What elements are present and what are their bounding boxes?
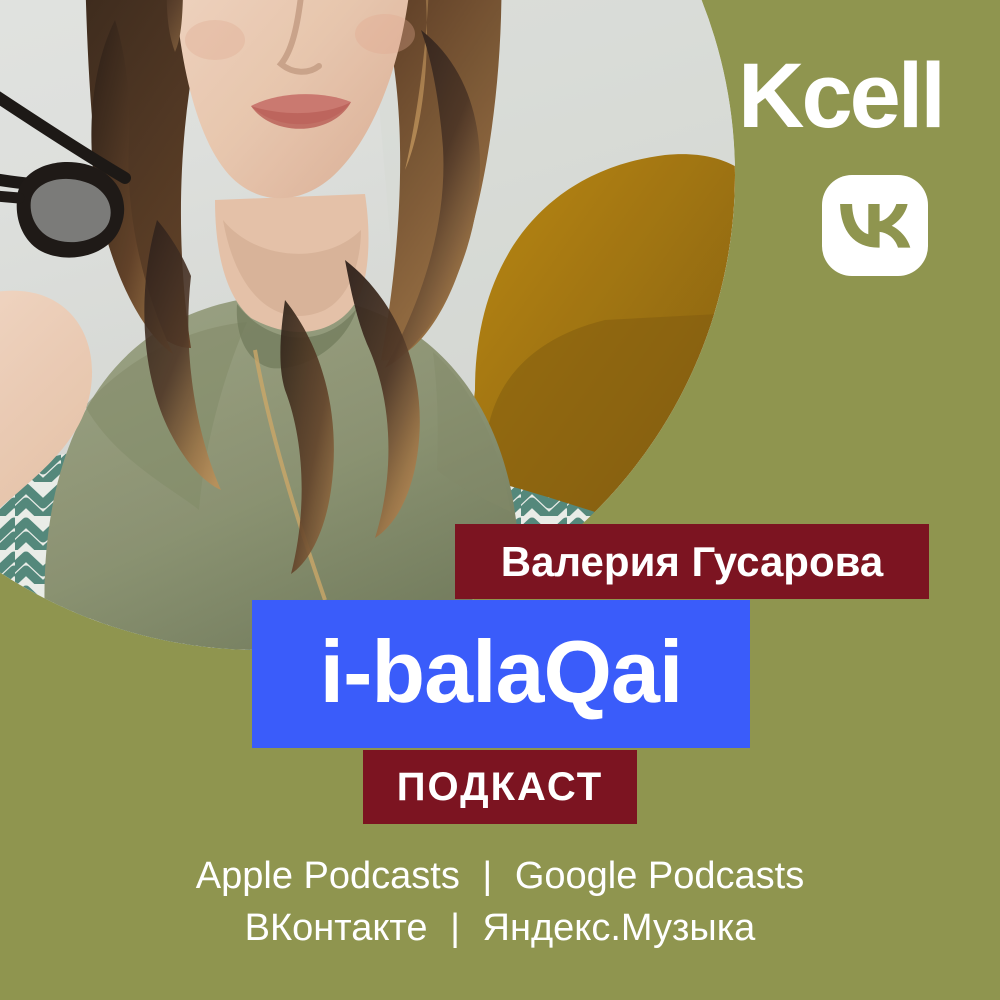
platform-row-2: ВКонтакте | Яндекс.Музыка <box>0 902 1000 954</box>
show-title-text: i-balaQai <box>320 621 683 723</box>
platform-list: Apple Podcasts | Google Podcasts ВКонтак… <box>0 850 1000 954</box>
host-name-banner: Валерия Гусарова <box>455 524 929 599</box>
show-kind-text: ПОДКАСТ <box>397 765 603 810</box>
platform-vkontakte[interactable]: ВКонтакте <box>245 907 428 949</box>
show-kind-banner: ПОДКАСТ <box>363 750 637 824</box>
platform-apple-podcasts[interactable]: Apple Podcasts <box>196 855 460 897</box>
vk-icon[interactable] <box>822 175 928 276</box>
platform-separator: | <box>438 902 472 954</box>
host-name-text: Валерия Гусарова <box>501 538 884 586</box>
platform-separator: | <box>470 850 504 902</box>
kcell-logo: Kcell <box>738 50 943 142</box>
show-title-banner: i-balaQai <box>252 600 750 748</box>
platform-row-1: Apple Podcasts | Google Podcasts <box>0 850 1000 902</box>
platform-yandex-music[interactable]: Яндекс.Музыка <box>483 907 756 949</box>
podcast-poster: Kcell Валерия Гусарова i-balaQai ПОДКАСТ… <box>0 0 1000 1000</box>
platform-google-podcasts[interactable]: Google Podcasts <box>515 855 804 897</box>
